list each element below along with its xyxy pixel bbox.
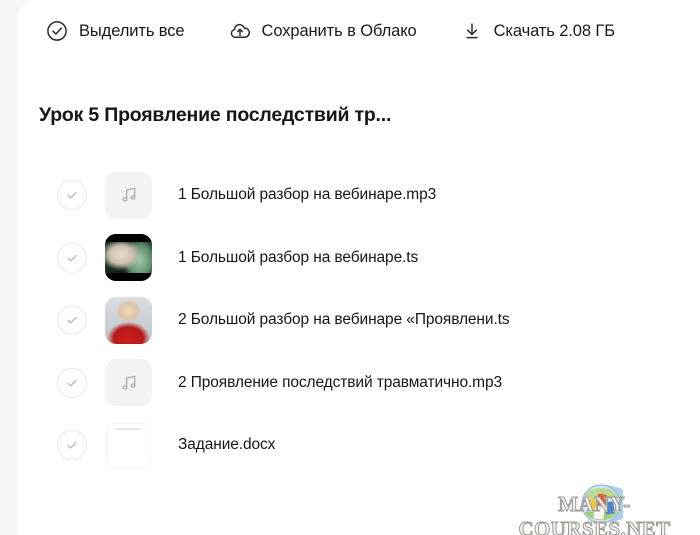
save-to-cloud-label: Сохранить в Облако [262,22,417,41]
row-checkbox[interactable] [57,305,87,335]
download-icon [461,20,483,42]
download-label: Скачать 2.08 ГБ [494,22,615,41]
music-note-icon [118,184,140,206]
list-item[interactable]: Задание.docx [17,414,700,477]
video-file-thumbnail [105,234,152,281]
file-list-card: Выделить все Сохранить в Облако Скач [17,0,700,535]
row-checkbox[interactable] [57,368,87,398]
audio-file-thumbnail [105,359,152,406]
row-checkbox[interactable] [57,243,87,273]
globe-books-logo-icon [579,482,623,526]
download-button[interactable]: Скачать 2.08 ГБ [461,16,615,46]
select-all-label: Выделить все [79,22,185,41]
audio-file-thumbnail [105,172,152,219]
list-item[interactable]: 2 Большой разбор на вебинаре «Проявлени.… [17,289,700,352]
music-note-icon [118,372,140,394]
document-file-thumbnail [105,422,152,469]
row-checkbox[interactable] [57,430,87,460]
file-name: 2 Большой разбор на вебинаре «Проявлени.… [178,311,510,329]
list-item[interactable]: 1 Большой разбор на вебинаре.ts [17,227,700,290]
page-title: Урок 5 Проявление последствий тр... [39,104,391,127]
row-checkbox[interactable] [57,180,87,210]
toolbar: Выделить все Сохранить в Облако Скач [17,0,700,62]
file-list: 1 Большой разбор на вебинаре.mp3 1 Больш… [17,164,700,477]
select-all-button[interactable]: Выделить все [46,16,185,46]
list-item[interactable]: 1 Большой разбор на вебинаре.mp3 [17,164,700,227]
file-name: 2 Проявление последствий травматично.mp3 [178,374,502,392]
cloud-upload-icon [229,20,251,42]
file-name: 1 Большой разбор на вебинаре.mp3 [178,186,436,204]
check-circle-icon [46,20,68,42]
document-page-icon [108,424,149,467]
watermark: MANY-COURSES.NET [487,482,700,528]
watermark-text: MANY-COURSES.NET [487,492,700,535]
list-item[interactable]: 2 Проявление последствий травматично.mp3 [17,352,700,415]
file-name: 1 Большой разбор на вебинаре.ts [178,249,418,267]
video-file-thumbnail [105,297,152,344]
save-to-cloud-button[interactable]: Сохранить в Облако [229,16,417,46]
file-name: Задание.docx [178,436,275,454]
